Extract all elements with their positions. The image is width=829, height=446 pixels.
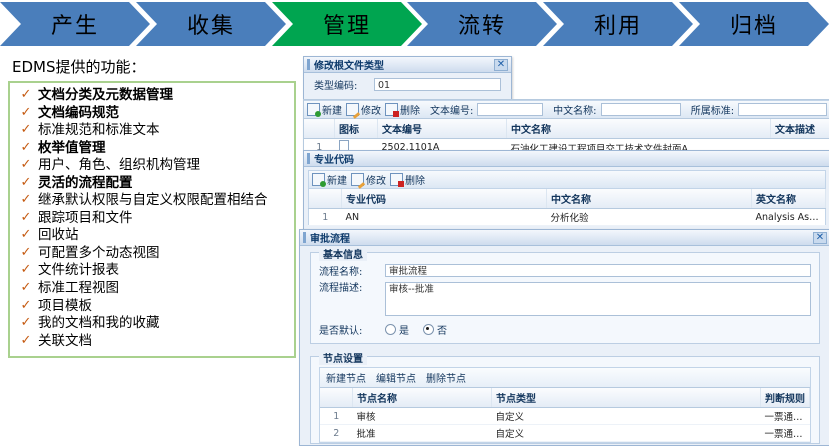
column-header[interactable] — [320, 388, 353, 408]
toolbar-button-label: 修改 — [366, 172, 386, 187]
features-heading: EDMS提供的功能： — [12, 56, 296, 77]
file-type-grid-panel[interactable]: 新建修改删除文本编号:中文名称:所属标准: 图标文本编号中文名称文本描述1250… — [303, 99, 829, 151]
feature-item: ✓文档分类及元数据管理 — [12, 87, 292, 105]
delete-icon — [385, 103, 398, 116]
dialog-major-code-title: 专业代码 — [314, 151, 354, 166]
major-code-table[interactable]: 专业代码中文名称英文名称1AN分析化验Analysis Assay — [308, 189, 826, 226]
feature-item-label: 灵活的流程配置 — [38, 175, 292, 193]
feature-item: ✓标准规范和标准文本 — [12, 122, 292, 140]
edit-button[interactable]: 修改 — [351, 172, 386, 187]
node-settings-group: 节点设置 新建节点编辑节点删除节点 节点名称节点类型判断规则1审核自定义一票通过… — [310, 356, 820, 444]
process-step-1[interactable]: 产生 — [0, 2, 150, 46]
table-row[interactable]: 1AN分析化验Analysis Assay — [309, 209, 826, 226]
feature-item-label: 用户、角色、组织机构管理 — [38, 157, 292, 175]
radio-dot-no — [423, 324, 434, 335]
flow-name-label: 流程名称: — [319, 263, 385, 278]
flow-desc-textarea[interactable]: 审核--批准 — [385, 282, 811, 316]
node-action-2[interactable]: 编辑节点 — [376, 370, 416, 385]
title-accent-bar — [303, 232, 306, 243]
table-cell: Analysis Assay — [752, 209, 826, 226]
table-row[interactable]: 1审核自定义一票通过/一票否决 — [320, 408, 810, 425]
process-step-3[interactable]: 管理 — [272, 2, 422, 46]
feature-item: ✓枚举值管理 — [12, 140, 292, 158]
process-step-label: 管理 — [323, 8, 371, 40]
filter-label: 所属标准: — [691, 102, 734, 117]
table-cell: 自定义 — [492, 408, 761, 425]
table-cell: 批准 — [353, 425, 492, 442]
delete-button[interactable]: 删除 — [385, 102, 420, 117]
features-list: ✓文档分类及元数据管理✓文档编码规范✓标准规范和标准文本✓枚举值管理✓用户、角色… — [8, 81, 296, 358]
feature-item: ✓项目模板 — [12, 298, 292, 316]
feature-item-label: 关联文档 — [38, 333, 292, 351]
dialog-workflow[interactable]: 审批流程 ✕ 基本信息 流程名称: 审批流程 流程描述: 审核--批准 是否默认… — [299, 229, 829, 446]
feature-item: ✓文件统计报表 — [12, 262, 292, 280]
feature-item-label: 文档分类及元数据管理 — [38, 87, 292, 105]
filter-label: 文本编号: — [430, 102, 473, 117]
check-icon: ✓ — [14, 192, 38, 209]
node-action-1[interactable]: 新建节点 — [326, 370, 366, 385]
filter-input[interactable] — [738, 103, 827, 116]
column-header[interactable]: 中文名称 — [507, 119, 771, 139]
check-icon: ✓ — [14, 210, 38, 227]
filter-input[interactable] — [477, 103, 543, 116]
type-code-label: 类型编码: — [314, 77, 374, 92]
feature-item: ✓关联文档 — [12, 333, 292, 351]
close-icon[interactable]: ✕ — [494, 59, 508, 71]
feature-item-label: 可配置多个动态视图 — [38, 245, 292, 263]
process-step-label: 收集 — [187, 8, 235, 40]
column-header[interactable] — [304, 119, 335, 139]
check-icon: ✓ — [14, 157, 38, 174]
delete-button[interactable]: 删除 — [390, 172, 425, 187]
feature-item-label: 文档编码规范 — [38, 105, 292, 123]
column-header[interactable] — [309, 189, 342, 209]
process-step-4[interactable]: 流转 — [407, 2, 557, 46]
column-header[interactable]: 节点类型 — [492, 388, 761, 408]
check-icon: ✓ — [14, 175, 38, 192]
column-header[interactable]: 英文名称 — [752, 189, 826, 209]
toolbar-button-label: 删除 — [400, 102, 420, 117]
feature-item-label: 标准工程视图 — [38, 280, 292, 298]
check-icon: ✓ — [14, 315, 38, 332]
basic-info-legend: 基本信息 — [319, 246, 367, 261]
check-icon: ✓ — [14, 122, 38, 139]
new-button[interactable]: 新建 — [312, 172, 347, 187]
file-type-table[interactable]: 图标文本编号中文名称文本描述12502.1101A石油化工建设工程项目交工技术文… — [304, 119, 829, 151]
dialog-file-type-titlebar: 修改根文件类型 ✕ — [304, 57, 511, 73]
table-cell: 审核 — [353, 408, 492, 425]
feature-item-label: 回收站 — [38, 227, 292, 245]
node-settings-legend: 节点设置 — [319, 350, 367, 365]
table-cell: 1 — [320, 408, 353, 425]
dialog-major-code[interactable]: 专业代码 新建修改删除 专业代码中文名称英文名称1AN分析化验Analysis … — [303, 150, 829, 236]
check-icon: ✓ — [14, 280, 38, 297]
feature-item-label: 标准规范和标准文本 — [38, 122, 292, 140]
check-icon: ✓ — [14, 298, 38, 315]
column-header[interactable]: 中文名称 — [547, 189, 752, 209]
feature-item: ✓继承默认权限与自定义权限配置相结合 — [12, 192, 292, 210]
process-step-6[interactable]: 归档 — [679, 2, 829, 46]
flow-name-input[interactable]: 审批流程 — [385, 264, 811, 277]
process-chevron-banner: 产生收集管理流转利用归档 — [0, 2, 829, 48]
process-step-label: 流转 — [458, 8, 506, 40]
radio-dot-yes — [385, 324, 396, 335]
delete-icon — [390, 173, 403, 186]
feature-item-label: 跟踪项目和文件 — [38, 210, 292, 228]
flow-desc-label: 流程描述: — [319, 282, 385, 295]
column-header[interactable]: 图标 — [335, 119, 378, 139]
dialog-major-code-titlebar: 专业代码 — [304, 151, 829, 167]
new-icon — [307, 103, 320, 116]
radio-default-yes[interactable]: 是 — [385, 322, 409, 337]
radio-no-label: 否 — [437, 322, 447, 337]
node-settings-table[interactable]: 节点名称节点类型判断规则1审核自定义一票通过/一票否决2批准自定义一票通过/一票… — [320, 388, 810, 442]
default-flag-label: 是否默认: — [319, 322, 385, 337]
basic-info-group: 基本信息 流程名称: 审批流程 流程描述: 审核--批准 是否默认: 是 否 — [310, 252, 820, 344]
filter-input[interactable] — [601, 103, 681, 116]
table-cell: 自定义 — [492, 425, 761, 442]
feature-item: ✓灵活的流程配置 — [12, 175, 292, 193]
feature-item-label: 我的文档和我的收藏 — [38, 315, 292, 333]
check-icon: ✓ — [14, 333, 38, 350]
check-icon: ✓ — [14, 262, 38, 279]
column-header[interactable]: 专业代码 — [342, 189, 547, 209]
toolbar-button-label: 删除 — [405, 172, 425, 187]
process-step-label: 归档 — [730, 8, 778, 40]
node-actions-bar[interactable]: 新建节点编辑节点删除节点 — [320, 368, 810, 388]
node-action-3[interactable]: 删除节点 — [426, 370, 466, 385]
file-type-toolbar[interactable]: 新建修改删除文本编号:中文名称:所属标准: — [304, 100, 829, 119]
major-code-toolbar[interactable]: 新建修改删除 — [308, 170, 826, 189]
table-cell: 一票通过/一票否决 — [761, 425, 810, 442]
features-panel: EDMS提供的功能： ✓文档分类及元数据管理✓文档编码规范✓标准规范和标准文本✓… — [8, 56, 296, 358]
check-icon: ✓ — [14, 140, 38, 157]
feature-item-label: 项目模板 — [38, 298, 292, 316]
type-code-input[interactable]: 01 — [374, 78, 501, 91]
title-accent-bar — [307, 59, 310, 70]
feature-item-label: 文件统计报表 — [38, 262, 292, 280]
feature-item: ✓文档编码规范 — [12, 105, 292, 123]
dialog-workflow-title: 审批流程 — [310, 230, 350, 245]
edit-icon — [351, 173, 364, 186]
close-icon[interactable]: ✕ — [813, 232, 827, 244]
table-row[interactable]: 2批准自定义一票通过/一票否决 — [320, 425, 810, 442]
column-header[interactable]: 文本描述 — [771, 119, 829, 139]
table-cell: AN — [342, 209, 547, 226]
column-header[interactable]: 判断规则 — [761, 388, 810, 408]
feature-item-label: 枚举值管理 — [38, 140, 292, 158]
column-header[interactable]: 文本编号 — [378, 119, 507, 139]
check-icon: ✓ — [14, 227, 38, 244]
filter-label: 中文名称: — [553, 102, 596, 117]
check-icon: ✓ — [14, 245, 38, 262]
edit-icon — [346, 103, 359, 116]
type-code-row: 类型编码: 01 — [304, 73, 511, 96]
table-cell: 1 — [309, 209, 342, 226]
radio-yes-label: 是 — [399, 322, 409, 337]
feature-item: ✓用户、角色、组织机构管理 — [12, 157, 292, 175]
column-header[interactable]: 节点名称 — [353, 388, 492, 408]
check-icon: ✓ — [14, 87, 38, 104]
check-icon: ✓ — [14, 105, 38, 122]
dialog-workflow-titlebar: 审批流程 ✕ — [300, 230, 829, 246]
process-step-2[interactable]: 收集 — [136, 2, 286, 46]
toolbar-button-label: 新建 — [322, 102, 342, 117]
process-step-label: 利用 — [594, 8, 642, 40]
toolbar-button-label: 修改 — [361, 102, 381, 117]
radio-default-no[interactable]: 否 — [423, 322, 447, 337]
new-icon — [312, 173, 325, 186]
toolbar-button-label: 新建 — [327, 172, 347, 187]
process-step-5[interactable]: 利用 — [543, 2, 693, 46]
dialog-file-type-title: 修改根文件类型 — [314, 57, 384, 72]
feature-item: ✓标准工程视图 — [12, 280, 292, 298]
process-step-label: 产生 — [51, 8, 99, 40]
feature-item: ✓回收站 — [12, 227, 292, 245]
table-cell: 一票通过/一票否决 — [761, 408, 810, 425]
table-cell: 分析化验 — [547, 209, 752, 226]
new-button[interactable]: 新建 — [307, 102, 342, 117]
feature-item: ✓我的文档和我的收藏 — [12, 315, 292, 333]
feature-item-label: 继承默认权限与自定义权限配置相结合 — [38, 192, 292, 210]
table-cell: 2 — [320, 425, 353, 442]
title-accent-bar — [307, 153, 310, 164]
edit-button[interactable]: 修改 — [346, 102, 381, 117]
feature-item: ✓跟踪项目和文件 — [12, 210, 292, 228]
feature-item: ✓可配置多个动态视图 — [12, 245, 292, 263]
